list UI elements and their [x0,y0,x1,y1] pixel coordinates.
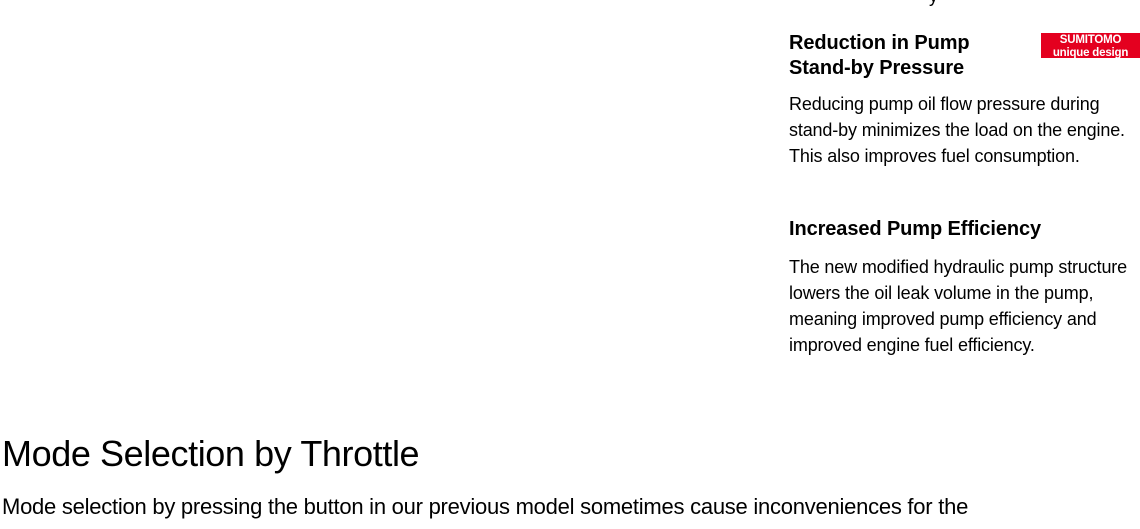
feature-body-text: The new modified hydraulic pump structur… [789,254,1137,358]
feature-block-pump-standby-pressure: Reduction in Pump Stand-by Pressure Redu… [789,31,1140,169]
mode-selection-section: Mode Selection by Throttle Mode selectio… [2,432,1140,522]
section-title: Mode Selection by Throttle [2,432,1140,476]
feature-body-text: Reducing pump oil flow pressure during s… [789,91,1137,169]
badge-brand-label: SUMITOMO [1041,35,1140,47]
feature-heading: Increased Pump Efficiency [789,217,1140,242]
feature-heading: Reduction in Pump Stand-by Pressure [789,31,1034,81]
badge-tagline-label: unique design [1041,48,1140,60]
feature-block-increased-pump-efficiency: Increased Pump Efficiency The new modifi… [789,217,1140,358]
sumitomo-unique-design-badge: SUMITOMO unique design [1041,33,1140,58]
clipped-text-fragment: y [929,0,938,9]
section-paragraph: Mode selection by pressing the button in… [2,492,1140,522]
